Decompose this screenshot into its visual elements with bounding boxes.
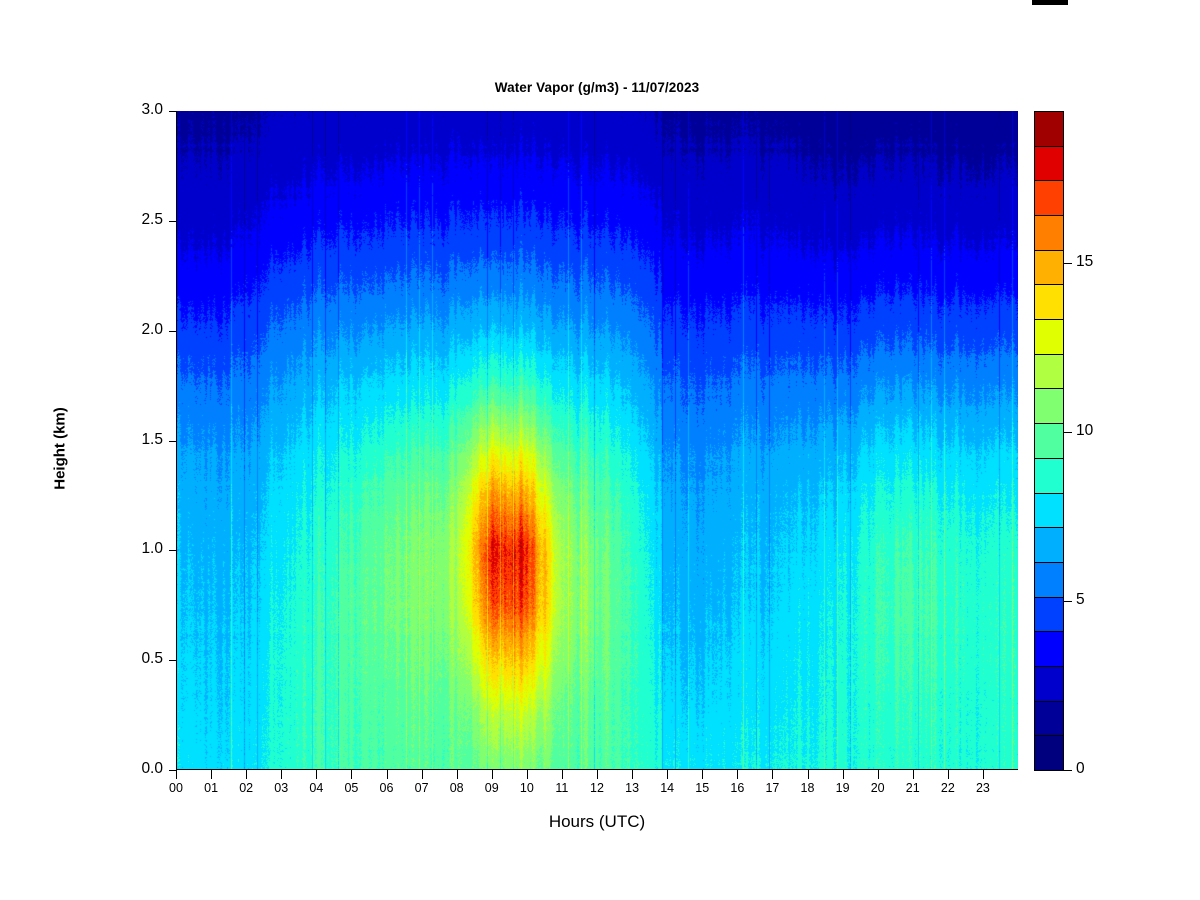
- x-tick-label: 06: [367, 781, 407, 795]
- page-title: Water Vapor (g/m3) - 11/07/2023: [176, 80, 1018, 95]
- x-tick-mark: [211, 770, 212, 779]
- colorbar-band: [1034, 527, 1064, 563]
- x-tick-mark: [597, 770, 598, 779]
- colorbar-tick-mark: [1064, 263, 1072, 264]
- x-tick-mark: [808, 770, 809, 779]
- y-tick-mark: [169, 331, 176, 332]
- x-tick-label: 05: [331, 781, 371, 795]
- x-tick-label: 18: [788, 781, 828, 795]
- x-tick-label: 23: [963, 781, 1003, 795]
- colorbar-band: [1034, 215, 1064, 251]
- colorbar: [1034, 111, 1064, 770]
- x-tick-label: 15: [682, 781, 722, 795]
- colorbar-tick-mark: [1064, 432, 1072, 433]
- x-tick-label: 07: [402, 781, 442, 795]
- heatmap-plot-area: [176, 111, 1018, 770]
- colorbar-tick-mark: [1064, 770, 1072, 771]
- colorbar-band: [1034, 493, 1064, 529]
- colorbar-tick-label: 15: [1076, 253, 1093, 271]
- heatmap-canvas: [176, 111, 1018, 770]
- x-tick-label: 20: [858, 781, 898, 795]
- x-tick-mark: [281, 770, 282, 779]
- colorbar-tick-label: 0: [1076, 760, 1085, 778]
- x-tick-label: 10: [507, 781, 547, 795]
- x-tick-label: 11: [542, 781, 582, 795]
- y-tick-mark: [169, 550, 176, 551]
- x-tick-mark: [422, 770, 423, 779]
- y-tick-mark: [169, 770, 176, 771]
- colorbar-band: [1034, 354, 1064, 390]
- x-tick-label: 02: [226, 781, 266, 795]
- y-tick-label: 0.0: [141, 760, 163, 778]
- colorbar-band: [1034, 319, 1064, 355]
- x-tick-mark: [316, 770, 317, 779]
- colorbar-band: [1034, 388, 1064, 424]
- colorbar-band: [1034, 666, 1064, 702]
- colorbar-band: [1034, 631, 1064, 667]
- x-tick-label: 17: [752, 781, 792, 795]
- top-edge-artifact: [1032, 0, 1068, 5]
- x-tick-mark: [176, 770, 177, 779]
- y-tick-mark: [169, 441, 176, 442]
- y-axis-label: Height (km): [52, 369, 69, 529]
- colorbar-tick-label: 5: [1076, 591, 1085, 609]
- x-tick-label: 03: [261, 781, 301, 795]
- x-tick-label: 09: [472, 781, 512, 795]
- figure-canvas: Water Vapor (g/m3) - 11/07/2023 Height (…: [0, 0, 1200, 900]
- x-tick-mark: [772, 770, 773, 779]
- colorbar-tick-label: 10: [1076, 422, 1093, 440]
- colorbar-band: [1034, 735, 1064, 771]
- colorbar-band: [1034, 423, 1064, 459]
- x-tick-label: 13: [612, 781, 652, 795]
- x-tick-label: 12: [577, 781, 617, 795]
- x-tick-label: 00: [156, 781, 196, 795]
- x-tick-mark: [913, 770, 914, 779]
- y-tick-label: 1.0: [141, 540, 163, 558]
- x-axis-label: Hours (UTC): [176, 812, 1018, 832]
- x-tick-label: 14: [647, 781, 687, 795]
- x-tick-label: 08: [437, 781, 477, 795]
- y-tick-label: 1.5: [141, 431, 163, 449]
- colorbar-band: [1034, 111, 1064, 147]
- x-tick-label: 01: [191, 781, 231, 795]
- y-tick-label: 2.0: [141, 321, 163, 339]
- colorbar-tick-mark: [1064, 601, 1072, 602]
- y-tick-mark: [169, 111, 176, 112]
- y-tick-mark: [169, 660, 176, 661]
- y-tick-mark: [169, 221, 176, 222]
- x-tick-mark: [387, 770, 388, 779]
- x-tick-mark: [843, 770, 844, 779]
- x-tick-mark: [737, 770, 738, 779]
- colorbar-band: [1034, 458, 1064, 494]
- colorbar-band: [1034, 597, 1064, 633]
- x-tick-label: 04: [296, 781, 336, 795]
- x-tick-label: 22: [928, 781, 968, 795]
- x-tick-label: 16: [717, 781, 757, 795]
- x-tick-mark: [702, 770, 703, 779]
- x-tick-mark: [492, 770, 493, 779]
- x-tick-mark: [457, 770, 458, 779]
- colorbar-band: [1034, 180, 1064, 216]
- x-tick-mark: [246, 770, 247, 779]
- y-tick-label: 2.5: [141, 211, 163, 229]
- colorbar-band: [1034, 250, 1064, 286]
- x-tick-mark: [667, 770, 668, 779]
- x-tick-mark: [948, 770, 949, 779]
- x-tick-mark: [527, 770, 528, 779]
- x-tick-mark: [351, 770, 352, 779]
- y-tick-label: 0.5: [141, 650, 163, 668]
- colorbar-band: [1034, 284, 1064, 320]
- x-tick-label: 21: [893, 781, 933, 795]
- x-tick-mark: [983, 770, 984, 779]
- x-tick-mark: [632, 770, 633, 779]
- x-tick-mark: [562, 770, 563, 779]
- colorbar-band: [1034, 562, 1064, 598]
- y-tick-label: 3.0: [141, 101, 163, 119]
- colorbar-band: [1034, 701, 1064, 737]
- x-tick-label: 19: [823, 781, 863, 795]
- colorbar-band: [1034, 146, 1064, 182]
- x-tick-mark: [878, 770, 879, 779]
